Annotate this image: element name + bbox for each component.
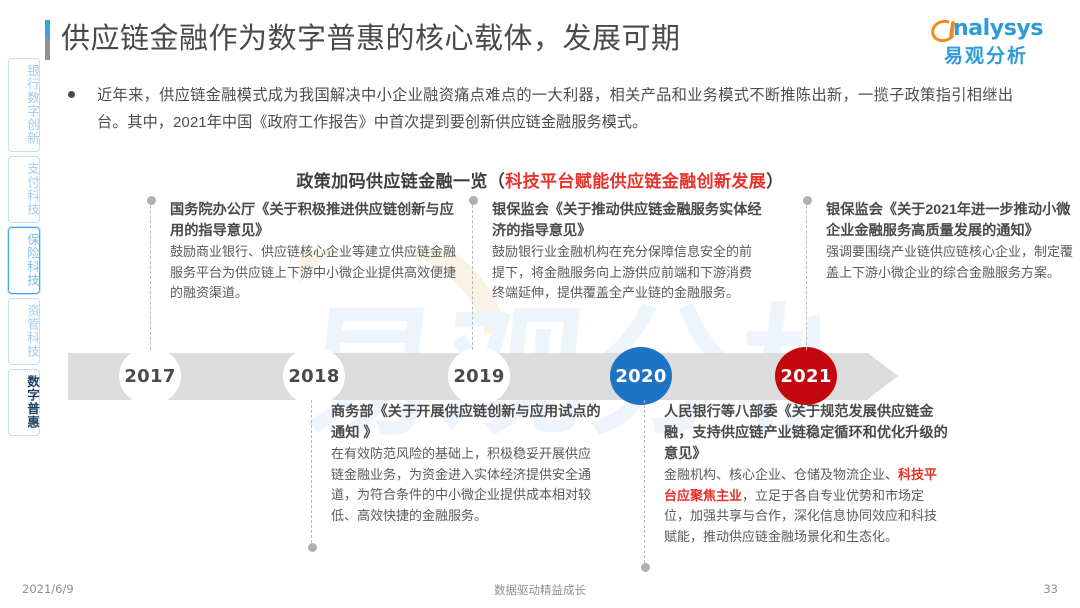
sidebar-item-label: 保险科技 <box>9 233 39 287</box>
timeline-marker-2021[interactable]: 2021 <box>775 347 837 405</box>
footer: 2021/6/9 数据驱动精益成长 33 <box>0 582 1080 600</box>
sidebar-item-digital-inclusive-finance[interactable]: 数字普惠 <box>8 369 40 436</box>
timeline-marker-2019[interactable]: 2019 <box>448 347 510 405</box>
logo-wordmark: nalysys <box>953 18 1043 40</box>
timeline-marker-2017[interactable]: 2017 <box>119 347 181 405</box>
slide-canvas: 易观分析 银行数字创新 支付科技 保险科技 资管科技 数字普惠 供应链金融作为数… <box>0 0 1080 608</box>
sidebar-item-label: 资管科技 <box>9 304 39 358</box>
entry-heading: 银保监会《关于推动供应链金融服务实体经济的指导意见》 <box>492 200 762 242</box>
timeline-bar: 2017 2018 2019 2020 2021 <box>68 353 898 400</box>
entry-heading: 商务部《关于开展供应链创新与应用试点的通知 》 <box>331 402 601 444</box>
intro-bullet-text: 近年来，供应链金融模式成为我国解决中小企业融资痛点难点的一大利器，相关产品和业务… <box>97 82 1013 136</box>
entry-body: 金融机构、核心企业、仓储及物流企业、科技平台应聚焦主业，立足于各自专业优势和市场… <box>664 465 949 547</box>
timeline-marker-label: 2019 <box>453 366 504 387</box>
timeline-arrow-icon <box>868 353 898 399</box>
entry-heading: 银保监会《关于2021年进一步推动小微企业金融服务高质量发展的通知》 <box>826 200 1076 242</box>
bullet-dot-icon <box>68 91 75 98</box>
footer-slogan: 数据驱动精益成长 <box>0 582 1080 598</box>
timeline-marker-label: 2018 <box>288 366 339 387</box>
footer-page-number: 33 <box>1043 582 1058 596</box>
title-accent-bar <box>45 20 50 60</box>
sidebar-item-asset-management-tech[interactable]: 资管科技 <box>8 298 40 365</box>
page-title: 供应链金融作为数字普惠的核心载体，发展可期 <box>45 18 681 60</box>
entry-heading: 人民银行等八部委《关于规范发展供应链金融，支持供应链产业链稳定循环和优化升级的意… <box>664 402 949 465</box>
entry-body: 鼓励银行业金融机构在充分保障信息安全的前提下，将金融服务向上游供应前端和下游消费… <box>492 242 762 304</box>
entry-body-pre: 金融机构、核心企业、仓储及物流企业、 <box>664 467 898 482</box>
chart-title: 政策加码供应链金融一览（科技平台赋能供应链金融创新发展） <box>0 167 1080 192</box>
timeline-marker-label: 2021 <box>780 366 831 387</box>
logo-chinese-name: 易观分析 <box>920 41 1052 68</box>
timeline-marker-label: 2017 <box>124 366 175 387</box>
chart-title-main: 政策加码供应链金融一览（ <box>296 172 505 191</box>
timeline-marker-label: 2020 <box>615 366 666 387</box>
entry-heading: 国务院办公厅《关于积极推进供应链创新与应用的指导意见》 <box>170 200 460 242</box>
brand-logo: nalysys 易观分析 <box>920 14 1052 68</box>
analysys-a-mark-icon <box>929 18 955 40</box>
entry-body: 在有效防范风险的基础上，积极稳妥开展供应链金融业务，为资金进入实体经济提供安全通… <box>331 444 601 526</box>
timeline-marker-2020[interactable]: 2020 <box>610 347 672 405</box>
timeline-marker-2018[interactable]: 2018 <box>283 347 345 405</box>
sidebar-item-insurance-tech[interactable]: 保险科技 <box>8 227 40 294</box>
intro-bullet: 近年来，供应链金融模式成为我国解决中小企业融资痛点难点的一大利器，相关产品和业务… <box>68 82 1013 136</box>
sidebar-item-label: 银行数字创新 <box>9 64 39 145</box>
entry-body: 鼓励商业银行、供应链核心企业等建立供应链金融服务平台为供应链上下游中小微企业提供… <box>170 242 460 304</box>
sidebar-item-bank-digital-innovation[interactable]: 银行数字创新 <box>8 58 40 152</box>
chart-title-tail: ） <box>766 172 783 191</box>
entry-body: 强调要围绕产业链供应链核心企业，制定覆盖上下游小微企业的综合金融服务方案。 <box>826 242 1076 283</box>
sidebar-tabs: 银行数字创新 支付科技 保险科技 资管科技 数字普惠 <box>8 58 42 440</box>
chart-title-highlight: 科技平台赋能供应链金融创新发展 <box>505 172 766 191</box>
title-text: 供应链金融作为数字普惠的核心载体，发展可期 <box>61 18 681 58</box>
sidebar-item-label: 数字普惠 <box>9 375 39 429</box>
